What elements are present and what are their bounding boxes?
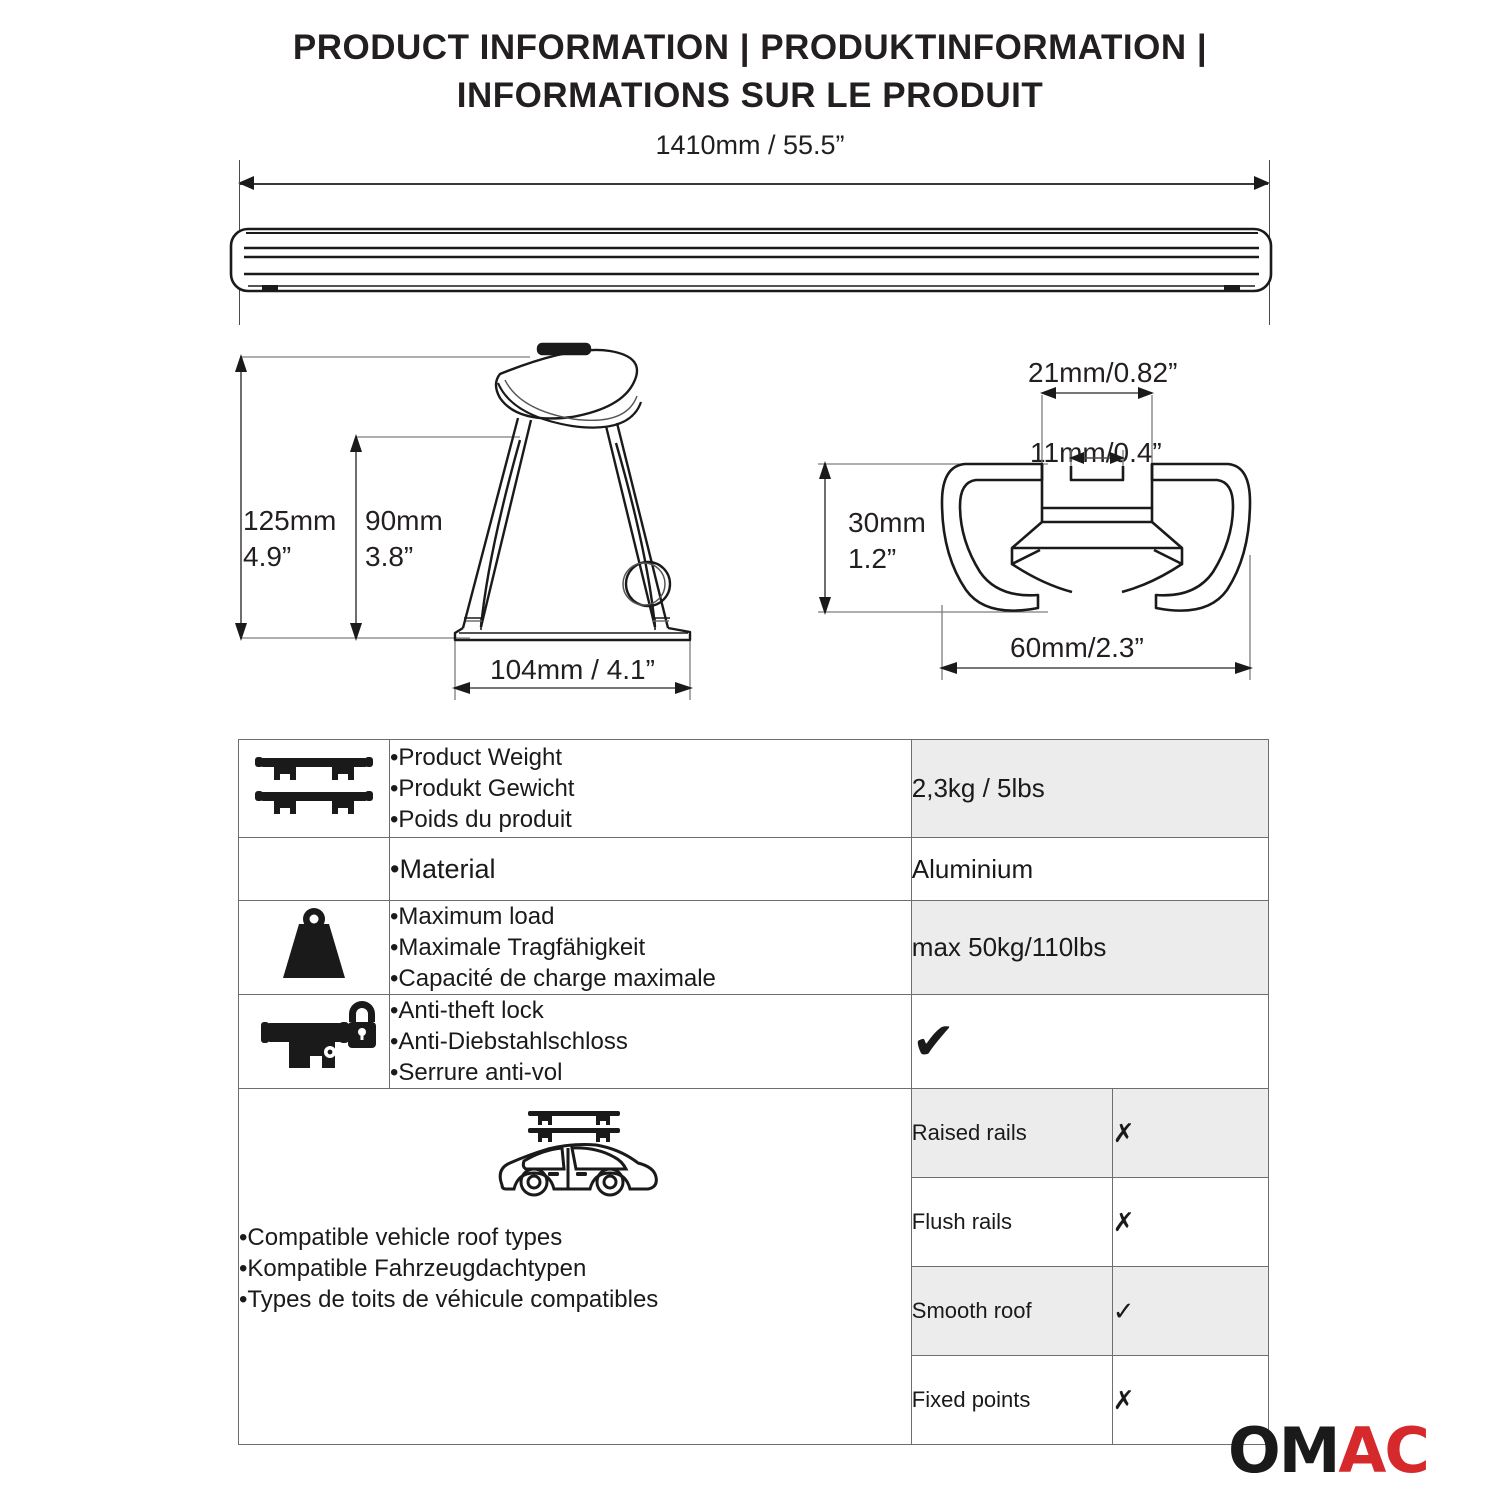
label-line: •Maximum load bbox=[390, 901, 911, 932]
car-with-bars-icon bbox=[480, 1103, 670, 1211]
logo-text-red: AC bbox=[1338, 1414, 1427, 1487]
maxload-icon-cell bbox=[239, 901, 390, 995]
bar-length-drawing: 1410mm / 55.5” bbox=[0, 130, 1500, 320]
weight-value-cell: 2,3kg / 5lbs bbox=[911, 740, 1268, 838]
roof-types-options-cell: Raised rails ✗ Flush rails ✗ Smooth roof… bbox=[911, 1089, 1268, 1445]
roof-option-mark: ✗ bbox=[1112, 1089, 1268, 1178]
lock-icon-cell bbox=[239, 995, 390, 1089]
label-line: •Product Weight bbox=[390, 742, 911, 773]
label-line: •Capacité de charge maximale bbox=[390, 963, 911, 994]
lock-icon bbox=[249, 996, 379, 1082]
omac-logo: OMAC bbox=[1228, 1418, 1428, 1484]
label-line: •Material bbox=[390, 854, 911, 885]
lock-label-cell: •Anti-theft lock •Anti-Diebstahlschloss … bbox=[390, 995, 912, 1089]
label-line: •Anti-Diebstahlschloss bbox=[390, 1026, 911, 1057]
label-line: •Maximale Tragfähigkeit bbox=[390, 932, 911, 963]
title-line-1: PRODUCT INFORMATION | PRODUKTINFORMATION… bbox=[0, 24, 1500, 72]
table-row: •Maximum load •Maximale Tragfähigkeit •C… bbox=[239, 901, 1269, 995]
table-row: •Anti-theft lock •Anti-Diebstahlschloss … bbox=[239, 995, 1269, 1089]
roof-option-row: Raised rails ✗ bbox=[912, 1089, 1268, 1178]
logo-text-dark: OM bbox=[1228, 1414, 1338, 1487]
material-icon-cell bbox=[239, 838, 390, 901]
dimension-drawings: 125mm 4.9” 90mm 3.8” 104mm / 4.1” bbox=[0, 340, 1500, 720]
weight-label-cell: •Product Weight •Produkt Gewicht •Poids … bbox=[390, 740, 912, 838]
label-line: •Kompatible Fahrzeugdachtypen bbox=[239, 1253, 911, 1284]
title-line-2: INFORMATIONS SUR LE PRODUIT bbox=[0, 72, 1500, 120]
label-line: •Types de toits de véhicule compatibles bbox=[239, 1284, 911, 1315]
weight-icon bbox=[259, 902, 369, 988]
label-line: •Poids du produit bbox=[390, 804, 911, 835]
roof-types-label-cell: •Compatible vehicle roof types •Kompatib… bbox=[239, 1089, 912, 1445]
label-line: •Produkt Gewicht bbox=[390, 773, 911, 804]
roof-option-mark: ✓ bbox=[1112, 1267, 1268, 1356]
lock-value-cell: ✔ bbox=[911, 995, 1268, 1089]
roof-option-name: Flush rails bbox=[912, 1178, 1113, 1267]
weight-icon-cell bbox=[239, 740, 390, 838]
roof-option-name: Raised rails bbox=[912, 1089, 1113, 1178]
material-value-cell: Aluminium bbox=[911, 838, 1268, 901]
label-line: •Compatible vehicle roof types bbox=[239, 1222, 911, 1253]
roof-option-row: Fixed points ✗ bbox=[912, 1356, 1268, 1445]
roof-option-name: Fixed points bbox=[912, 1356, 1113, 1445]
label-line: •Serrure anti-vol bbox=[390, 1057, 911, 1088]
product-spec-table: •Product Weight •Produkt Gewicht •Poids … bbox=[238, 739, 1269, 1445]
table-row: •Product Weight •Produkt Gewicht •Poids … bbox=[239, 740, 1269, 838]
label-line: •Anti-theft lock bbox=[390, 995, 911, 1026]
crossbar-profile-drawing bbox=[0, 130, 1500, 320]
tower-drawing bbox=[0, 340, 760, 720]
roof-types-row: •Compatible vehicle roof types •Kompatib… bbox=[239, 1089, 1269, 1445]
maxload-value-cell: max 50kg/110lbs bbox=[911, 901, 1268, 995]
roof-option-name: Smooth roof bbox=[912, 1267, 1113, 1356]
page-title: PRODUCT INFORMATION | PRODUKTINFORMATION… bbox=[0, 24, 1500, 120]
roof-option-row: Flush rails ✗ bbox=[912, 1178, 1268, 1267]
crossbars-icon bbox=[244, 740, 384, 832]
material-label-cell: •Material bbox=[390, 838, 912, 901]
maxload-label-cell: •Maximum load •Maximale Tragfähigkeit •C… bbox=[390, 901, 912, 995]
roof-option-row: Smooth roof ✓ bbox=[912, 1267, 1268, 1356]
roof-option-mark: ✗ bbox=[1112, 1178, 1268, 1267]
bar-cross-section-drawing bbox=[790, 340, 1350, 720]
table-row: •Material Aluminium bbox=[239, 838, 1269, 901]
